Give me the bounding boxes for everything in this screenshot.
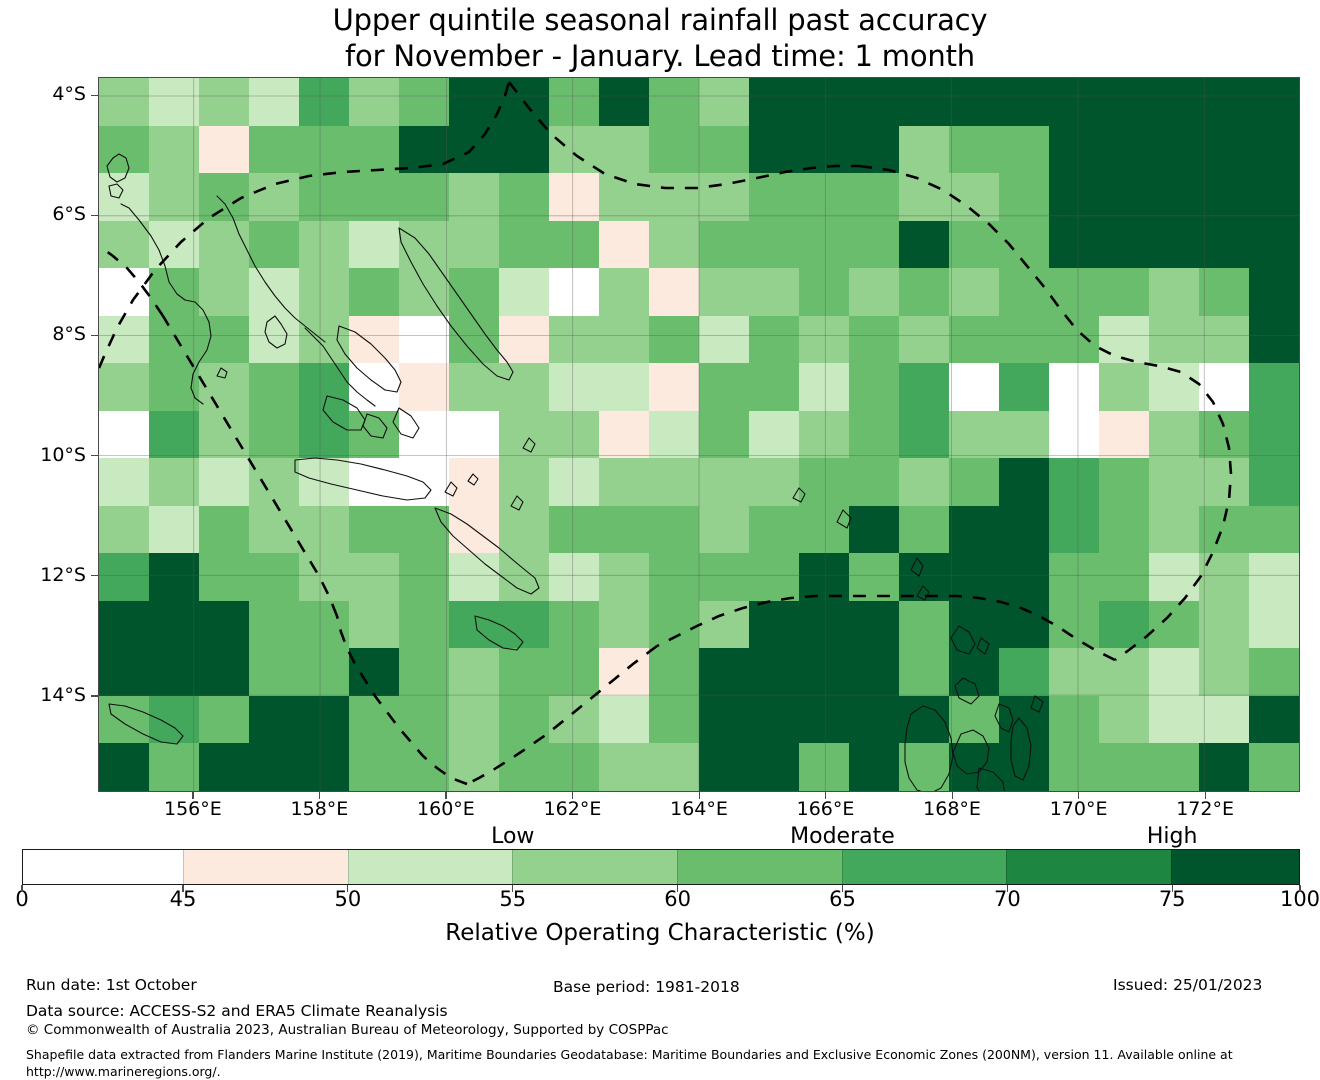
longitude-tick-label: 170°E: [1019, 800, 1139, 819]
heatmap-cell: [399, 363, 450, 411]
heatmap-cell: [149, 316, 200, 364]
heatmap-cell: [249, 78, 300, 126]
copyright-text: © Commonwealth of Australia 2023, Austra…: [26, 1020, 669, 1040]
heatmap-cell: [1049, 363, 1100, 411]
heatmap-cell: [1149, 268, 1200, 316]
heatmap-cell: [649, 363, 700, 411]
heatmap-cell: [999, 601, 1050, 649]
heatmap-cell: [549, 221, 600, 269]
longitude-tick-label: 156°E: [133, 800, 253, 819]
heatmap-cell: [149, 601, 200, 649]
heatmap-cell: [1049, 506, 1100, 554]
heatmap-cell: [299, 78, 350, 126]
colorbar-tick-label: 100: [1260, 889, 1320, 910]
heatmap-cell: [949, 126, 1000, 174]
heatmap-cell: [999, 78, 1050, 126]
heatmap-cell: [249, 458, 300, 506]
heatmap-cell: [199, 126, 250, 174]
heatmap-cell: [99, 316, 150, 364]
heatmap-cell: [1049, 648, 1100, 696]
colorbar-segment: [1006, 850, 1171, 884]
heatmap-cell: [749, 221, 800, 269]
heatmap-cell: [499, 316, 550, 364]
heatmap-cell: [349, 316, 400, 364]
heatmap-cell: [799, 506, 850, 554]
heatmap-cell: [249, 696, 300, 744]
heatmap-cell: [1249, 696, 1300, 744]
heatmap-cell: [849, 601, 900, 649]
heatmap-cell: [749, 411, 800, 459]
heatmap-cell: [1099, 648, 1150, 696]
heatmap-cell: [399, 221, 450, 269]
shapefile-attribution: Shapefile data extracted from Flanders M…: [26, 1046, 1233, 1080]
heatmap-cell: [649, 411, 700, 459]
heatmap-cell: [799, 268, 850, 316]
heatmap-cell: [1049, 743, 1100, 791]
heatmap-cell: [299, 173, 350, 221]
heatmap-cell: [1099, 506, 1150, 554]
heatmap-cell: [449, 458, 500, 506]
heatmap-cell: [649, 78, 700, 126]
heatmap-cell: [249, 126, 300, 174]
longitude-tick-mark: [825, 792, 826, 799]
heatmap-cell: [399, 78, 450, 126]
heatmap-cell: [349, 173, 400, 221]
heatmap-cell: [1099, 601, 1150, 649]
heatmap-cell: [249, 411, 300, 459]
heatmap-cell: [649, 743, 700, 791]
colorbar-tick-label: 55: [473, 889, 553, 910]
heatmap-cell: [549, 696, 600, 744]
heatmap-cell: [1249, 411, 1300, 459]
heatmap-cell: [849, 458, 900, 506]
heatmap-cell: [899, 458, 950, 506]
heatmap-cell: [599, 221, 650, 269]
heatmap-cell: [549, 173, 600, 221]
heatmap-cell: [949, 316, 1000, 364]
latitude-tick-label: 10°S: [0, 446, 86, 465]
heatmap-cell: [999, 458, 1050, 506]
heatmap-cell: [199, 268, 250, 316]
longitude-tick-label: 164°E: [639, 800, 759, 819]
heatmap-cell: [299, 696, 350, 744]
heatmap-cell: [149, 506, 200, 554]
heatmap-cell: [849, 696, 900, 744]
heatmap-cell: [549, 506, 600, 554]
heatmap-cell: [199, 648, 250, 696]
heatmap-cell: [999, 696, 1050, 744]
heatmap-cell: [1049, 553, 1100, 601]
heatmap-cell: [999, 126, 1050, 174]
heatmap-cell: [799, 221, 850, 269]
heatmap-cell: [1249, 173, 1300, 221]
heatmap-cell: [149, 743, 200, 791]
heatmap-cell: [799, 743, 850, 791]
heatmap-cell: [349, 126, 400, 174]
colorbar-tick-mark: [347, 885, 348, 892]
heatmap-cell: [1199, 268, 1250, 316]
colorbar-segment: [23, 850, 183, 884]
heatmap-cell: [399, 316, 450, 364]
colorbar-tick-mark: [1299, 885, 1300, 892]
heatmap-cell: [1249, 743, 1300, 791]
heatmap-cell: [1149, 173, 1200, 221]
heatmap-cell: [899, 648, 950, 696]
longitude-tick-label: 162°E: [512, 800, 632, 819]
heatmap-cell: [699, 743, 750, 791]
heatmap-cell: [699, 601, 750, 649]
heatmap-cell: [499, 601, 550, 649]
heatmap-cell: [99, 363, 150, 411]
heatmap-cell: [399, 458, 450, 506]
heatmap-cell: [649, 268, 700, 316]
heatmap-cell: [249, 363, 300, 411]
heatmap-cell: [499, 506, 550, 554]
heatmap-cell: [599, 743, 650, 791]
longitude-tick-mark: [1078, 792, 1079, 799]
heatmap-cell: [499, 743, 550, 791]
heatmap-cell: [849, 78, 900, 126]
heatmap-cell: [899, 268, 950, 316]
heatmap-cell: [1099, 316, 1150, 364]
colorbar-segment: [677, 850, 842, 884]
heatmap-cell: [349, 363, 400, 411]
heatmap-cell: [1149, 601, 1200, 649]
heatmap-cell: [799, 78, 850, 126]
heatmap-cell: [199, 696, 250, 744]
heatmap-cell: [699, 553, 750, 601]
heatmap-cell: [1049, 268, 1100, 316]
heatmap-cell: [349, 696, 400, 744]
heatmap-cell: [1249, 553, 1300, 601]
heatmap-cell: [149, 268, 200, 316]
heatmap-cell: [549, 78, 600, 126]
heatmap-cell: [799, 411, 850, 459]
roc-heatmap-grid: [99, 78, 1299, 791]
heatmap-cell: [99, 696, 150, 744]
heatmap-cell: [549, 268, 600, 316]
heatmap-cell: [349, 743, 400, 791]
heatmap-cell: [1199, 221, 1250, 269]
heatmap-cell: [1199, 743, 1250, 791]
heatmap-cell: [649, 553, 700, 601]
heatmap-cell: [699, 316, 750, 364]
heatmap-cell: [999, 506, 1050, 554]
heatmap-cell: [699, 126, 750, 174]
heatmap-cell: [399, 601, 450, 649]
heatmap-cell: [899, 506, 950, 554]
heatmap-cell: [749, 506, 800, 554]
heatmap-cell: [1199, 78, 1250, 126]
heatmap-cell: [749, 316, 800, 364]
heatmap-cell: [499, 648, 550, 696]
heatmap-cell: [449, 696, 500, 744]
heatmap-cell: [899, 743, 950, 791]
heatmap-cell: [999, 221, 1050, 269]
heatmap-cell: [99, 221, 150, 269]
colorbar-tick-mark: [1172, 885, 1173, 892]
heatmap-cell: [1149, 458, 1200, 506]
heatmap-cell: [699, 648, 750, 696]
heatmap-cell: [949, 601, 1000, 649]
colorbar-tick-mark: [512, 885, 513, 892]
heatmap-cell: [849, 126, 900, 174]
heatmap-cell: [599, 316, 650, 364]
heatmap-cell: [749, 743, 800, 791]
heatmap-cell: [899, 78, 950, 126]
heatmap-cell: [1049, 78, 1100, 126]
heatmap-cell: [549, 363, 600, 411]
heatmap-cell: [899, 411, 950, 459]
heatmap-cell: [299, 553, 350, 601]
heatmap-cell: [1149, 648, 1200, 696]
heatmap-cell: [299, 601, 350, 649]
heatmap-cell: [1099, 411, 1150, 459]
base-period-text: Base period: 1981-2018: [553, 977, 740, 997]
heatmap-cell: [399, 553, 450, 601]
heatmap-cell: [499, 78, 550, 126]
heatmap-cell: [899, 126, 950, 174]
latitude-tick-mark: [91, 695, 98, 696]
heatmap-cell: [449, 173, 500, 221]
heatmap-cell: [199, 316, 250, 364]
colorbar-axis-title: Relative Operating Characteristic (%): [0, 920, 1320, 946]
heatmap-cell: [1249, 458, 1300, 506]
longitude-tick-mark: [1205, 792, 1206, 799]
heatmap-cell: [799, 363, 850, 411]
longitude-tick-mark: [572, 792, 573, 799]
heatmap-cell: [449, 316, 500, 364]
heatmap-cell: [299, 316, 350, 364]
heatmap-cell: [749, 696, 800, 744]
heatmap-cell: [499, 126, 550, 174]
heatmap-cell: [899, 316, 950, 364]
heatmap-cell: [349, 78, 400, 126]
heatmap-cell: [899, 601, 950, 649]
heatmap-cell: [299, 411, 350, 459]
colorbar-segment: [1171, 850, 1299, 884]
heatmap-cell: [599, 363, 650, 411]
heatmap-cell: [599, 506, 650, 554]
heatmap-cell: [599, 268, 650, 316]
heatmap-cell: [1049, 221, 1100, 269]
heatmap-cell: [449, 506, 500, 554]
heatmap-cell: [99, 553, 150, 601]
heatmap-cell: [249, 173, 300, 221]
colorbar-category-label: Moderate: [742, 826, 942, 848]
heatmap-cell: [1149, 696, 1200, 744]
heatmap-cell: [549, 411, 600, 459]
heatmap-cell: [849, 506, 900, 554]
heatmap-cell: [99, 601, 150, 649]
heatmap-cell: [849, 221, 900, 269]
heatmap-cell: [499, 221, 550, 269]
heatmap-cell: [699, 506, 750, 554]
longitude-tick-label: 172°E: [1145, 800, 1265, 819]
heatmap-cell: [949, 648, 1000, 696]
heatmap-cell: [1149, 553, 1200, 601]
heatmap-cell: [549, 743, 600, 791]
heatmap-cell: [599, 126, 650, 174]
heatmap-cell: [1199, 458, 1250, 506]
heatmap-cell: [399, 411, 450, 459]
heatmap-cell: [99, 506, 150, 554]
heatmap-cell: [949, 411, 1000, 459]
title-line-2: for November - January. Lead time: 1 mon…: [0, 38, 1320, 74]
longitude-tick-mark: [952, 792, 953, 799]
data-source-text: Data source: ACCESS-S2 and ERA5 Climate …: [26, 1001, 448, 1021]
heatmap-cell: [699, 696, 750, 744]
heatmap-cell: [999, 173, 1050, 221]
heatmap-cell: [599, 601, 650, 649]
heatmap-cell: [399, 696, 450, 744]
heatmap-cell: [199, 458, 250, 506]
heatmap-cell: [349, 601, 400, 649]
heatmap-cell: [749, 458, 800, 506]
heatmap-cell: [349, 411, 400, 459]
heatmap-cell: [949, 696, 1000, 744]
heatmap-cell: [1099, 363, 1150, 411]
heatmap-cell: [1249, 78, 1300, 126]
heatmap-cell: [699, 363, 750, 411]
colorbar-tick-mark: [182, 885, 183, 892]
heatmap-cell: [349, 553, 400, 601]
heatmap-cell: [999, 316, 1050, 364]
heatmap-cell: [1049, 316, 1100, 364]
heatmap-cell: [499, 458, 550, 506]
heatmap-cell: [649, 173, 700, 221]
heatmap-cell: [699, 173, 750, 221]
heatmap-cell: [949, 743, 1000, 791]
heatmap-cell: [899, 696, 950, 744]
heatmap-cell: [599, 553, 650, 601]
heatmap-cell: [199, 78, 250, 126]
heatmap-cell: [199, 363, 250, 411]
heatmap-cell: [849, 316, 900, 364]
latitude-tick-label: 8°S: [0, 325, 86, 344]
heatmap-cell: [249, 221, 300, 269]
colorbar-segment: [348, 850, 513, 884]
heatmap-cell: [849, 268, 900, 316]
heatmap-cell: [299, 458, 350, 506]
heatmap-cell: [499, 553, 550, 601]
heatmap-cell: [149, 696, 200, 744]
latitude-tick-label: 14°S: [0, 686, 86, 705]
heatmap-cell: [1049, 126, 1100, 174]
heatmap-cell: [399, 648, 450, 696]
latitude-tick-label: 6°S: [0, 205, 86, 224]
heatmap-cell: [749, 126, 800, 174]
heatmap-cell: [549, 648, 600, 696]
issued-date-text: Issued: 25/01/2023: [1113, 975, 1262, 995]
heatmap-cell: [949, 173, 1000, 221]
map-plot-area: [98, 77, 1300, 792]
heatmap-cell: [99, 648, 150, 696]
heatmap-cell: [699, 458, 750, 506]
colorbar-tick-label: 70: [967, 889, 1047, 910]
heatmap-cell: [1199, 648, 1250, 696]
longitude-tick-mark: [192, 792, 193, 799]
heatmap-cell: [449, 221, 500, 269]
heatmap-cell: [1249, 648, 1300, 696]
colorbar: [22, 849, 1300, 885]
heatmap-cell: [199, 221, 250, 269]
heatmap-cell: [1099, 221, 1150, 269]
heatmap-cell: [449, 363, 500, 411]
heatmap-cell: [699, 268, 750, 316]
heatmap-cell: [649, 648, 700, 696]
heatmap-cell: [799, 553, 850, 601]
heatmap-cell: [149, 363, 200, 411]
heatmap-cell: [249, 268, 300, 316]
heatmap-cell: [1199, 411, 1250, 459]
colorbar-tick-mark: [1007, 885, 1008, 892]
heatmap-cell: [249, 743, 300, 791]
heatmap-cell: [1199, 363, 1250, 411]
heatmap-cell: [799, 601, 850, 649]
colorbar-tick-label: 50: [308, 889, 388, 910]
shapefile-line-1: Shapefile data extracted from Flanders M…: [26, 1046, 1233, 1063]
heatmap-cell: [749, 648, 800, 696]
heatmap-cell: [999, 743, 1050, 791]
heatmap-cell: [899, 553, 950, 601]
heatmap-cell: [1199, 126, 1250, 174]
heatmap-cell: [599, 696, 650, 744]
heatmap-cell: [1149, 126, 1200, 174]
heatmap-cell: [349, 506, 400, 554]
heatmap-cell: [599, 458, 650, 506]
longitude-tick-mark: [699, 792, 700, 799]
heatmap-cell: [1199, 553, 1250, 601]
heatmap-cell: [149, 458, 200, 506]
heatmap-cell: [449, 648, 500, 696]
heatmap-cell: [1099, 696, 1150, 744]
heatmap-cell: [499, 696, 550, 744]
latitude-tick-mark: [91, 95, 98, 96]
heatmap-cell: [1249, 316, 1300, 364]
heatmap-cell: [649, 126, 700, 174]
heatmap-cell: [949, 553, 1000, 601]
heatmap-cell: [1249, 268, 1300, 316]
heatmap-cell: [299, 648, 350, 696]
heatmap-cell: [99, 743, 150, 791]
heatmap-cell: [299, 363, 350, 411]
heatmap-cell: [299, 221, 350, 269]
colorbar-tick-mark: [842, 885, 843, 892]
heatmap-cell: [649, 458, 700, 506]
heatmap-cell: [849, 411, 900, 459]
colorbar-tick-label: 0: [0, 889, 62, 910]
heatmap-cell: [1149, 506, 1200, 554]
heatmap-cell: [749, 553, 800, 601]
heatmap-cell: [399, 173, 450, 221]
heatmap-cell: [449, 553, 500, 601]
heatmap-cell: [599, 648, 650, 696]
heatmap-cell: [1049, 696, 1100, 744]
heatmap-cell: [649, 316, 700, 364]
heatmap-cell: [99, 458, 150, 506]
heatmap-cell: [799, 126, 850, 174]
heatmap-cell: [849, 553, 900, 601]
heatmap-cell: [1099, 268, 1150, 316]
heatmap-cell: [699, 78, 750, 126]
heatmap-cell: [449, 268, 500, 316]
heatmap-cell: [249, 316, 300, 364]
heatmap-cell: [599, 78, 650, 126]
colorbar-segment: [512, 850, 677, 884]
heatmap-cell: [149, 126, 200, 174]
latitude-tick-mark: [91, 335, 98, 336]
